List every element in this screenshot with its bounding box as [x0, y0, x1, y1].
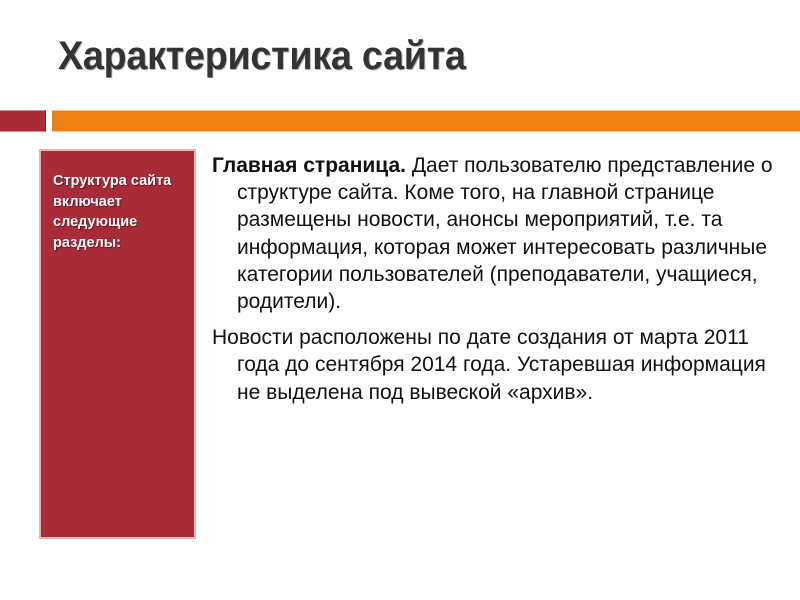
divider-orange-bar [52, 110, 800, 132]
title-divider-band [0, 110, 800, 132]
paragraph-rest-1: Дает пользователю представление о структ… [237, 154, 773, 313]
paragraph-rest-2: Новости расположены по дате создания от … [212, 326, 766, 403]
body-paragraph-2: Новости расположены по дате создания от … [212, 324, 784, 406]
body-paragraph-1: Главная страница. Дает пользователю пред… [212, 152, 784, 315]
body-content: Главная страница. Дает пользователю пред… [212, 152, 784, 408]
paragraph-lead-1: Главная страница. [212, 154, 406, 177]
slide-canvas: Характеристика сайта Структура сайта вкл… [0, 0, 800, 600]
side-panel: Структура сайта включает следующие разде… [39, 149, 196, 539]
divider-red-square [0, 110, 46, 132]
page-title: Характеристика сайта [58, 33, 716, 80]
side-panel-label: Структура сайта включает следующие разде… [53, 171, 186, 253]
